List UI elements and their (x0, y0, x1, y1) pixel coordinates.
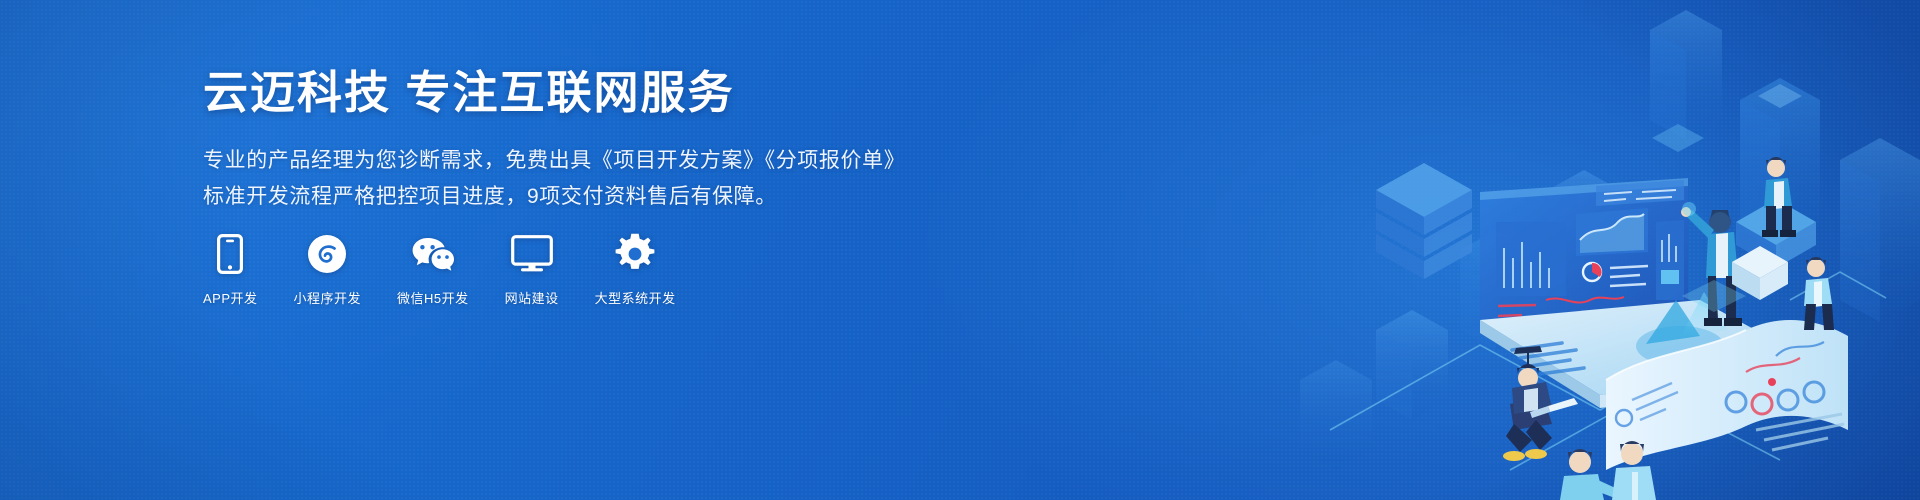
illustration (1180, 0, 1920, 500)
monitor-icon (506, 232, 558, 276)
banner-subtitle-line-2: 标准开发流程严格把控项目进度，9项交付资料售后有保障。 (203, 179, 903, 215)
wechat-icon (407, 232, 459, 276)
service-item-large-system[interactable]: 大型系统开发 (595, 232, 676, 307)
service-label: 网站建设 (505, 288, 559, 307)
gear-icon (609, 232, 661, 276)
service-label: 微信H5开发 (397, 288, 469, 307)
service-item-website[interactable]: 网站建设 (505, 232, 559, 307)
banner-headline: 云迈科技 专注互联网服务 (203, 66, 903, 119)
hero-banner: 云迈科技 专注互联网服务 专业的产品经理为您诊断需求，免费出具《项目开发方案》《… (0, 0, 1920, 500)
service-item-mini-program[interactable]: 小程序开发 (294, 232, 362, 307)
service-item-app[interactable]: APP开发 (203, 232, 258, 307)
mini-program-icon (301, 232, 353, 276)
service-list: APP开发 小程序开发 微信 (203, 232, 676, 307)
banner-copy: 云迈科技 专注互联网服务 专业的产品经理为您诊断需求，免费出具《项目开发方案》《… (203, 66, 903, 215)
service-item-wechat-h5[interactable]: 微信H5开发 (397, 232, 469, 307)
service-label: APP开发 (203, 288, 258, 307)
banner-subtitle-line-1: 专业的产品经理为您诊断需求，免费出具《项目开发方案》《分项报价单》 (203, 143, 903, 179)
service-label: 大型系统开发 (595, 288, 676, 307)
mobile-phone-icon (204, 232, 256, 276)
service-label: 小程序开发 (294, 288, 362, 307)
